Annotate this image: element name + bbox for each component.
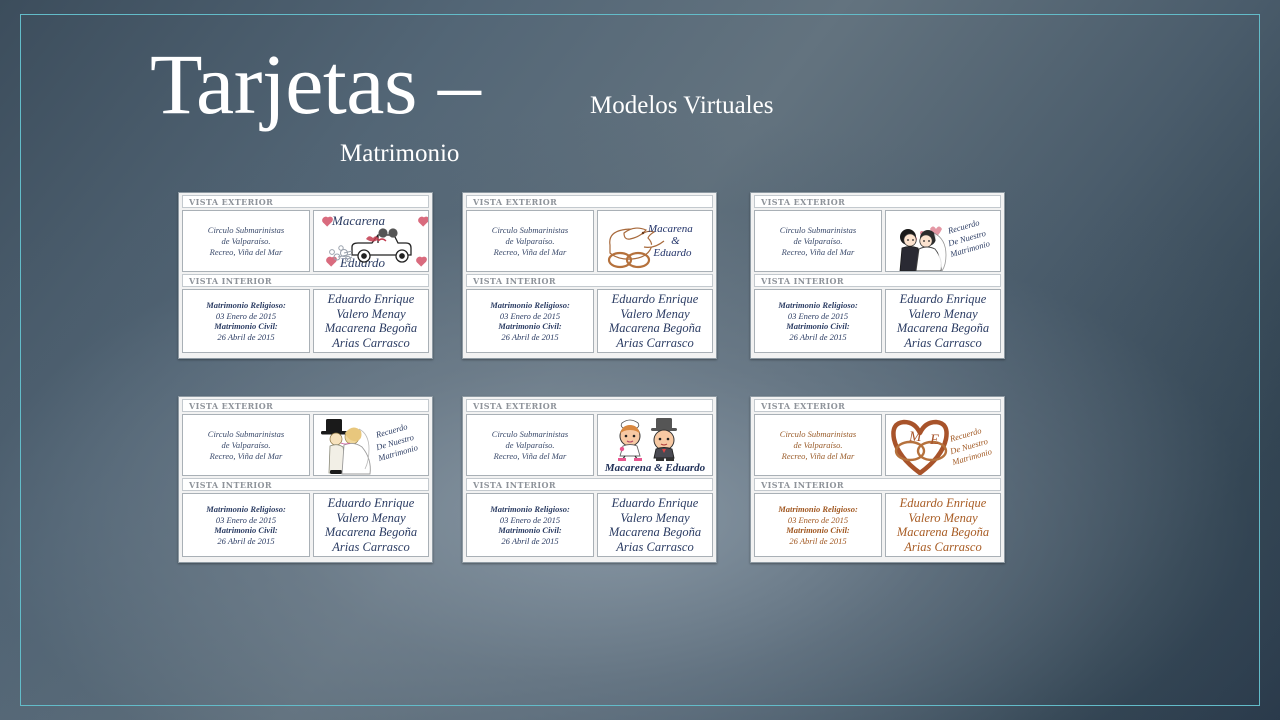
card-4[interactable]: VISTA EXTERIOR Circulo Submarinistas de … [178, 396, 433, 563]
event-panel: Matrimonio Religioso: 03 Enero de 2015 M… [754, 493, 882, 557]
venue-panel: Circulo Submarinistas de Valparaíso. Rec… [182, 414, 310, 476]
artwork-panel-dove-rings: Macarena & Eduardo [597, 210, 713, 272]
couple-embrace-illustration: Recuerdo De Nuestro Matrimonio [886, 211, 1000, 271]
dove-rings-illustration: Macarena & Eduardo [598, 211, 712, 271]
interior-row: Matrimonio Religioso: 03 Enero de 2015 M… [182, 493, 429, 557]
names-panel: Eduardo Enrique Valero Menay Macarena Be… [313, 289, 429, 353]
religious-label: Matrimonio Religioso: [490, 504, 570, 515]
title-subtitle-right: Modelos Virtuales [590, 92, 773, 120]
venue-panel: Circulo Submarinistas de Valparaíso. Rec… [754, 414, 882, 476]
religious-date: 03 Enero de 2015 [216, 311, 276, 322]
venue-line-3: Recreo, Viña del Mar [782, 451, 855, 462]
venue-line-3: Recreo, Viña del Mar [782, 247, 855, 258]
event-panel: Matrimonio Religioso: 03 Enero de 2015 M… [182, 289, 310, 353]
religious-label: Matrimonio Religioso: [206, 300, 286, 311]
card-3[interactable]: VISTA EXTERIOR Circulo Submarinistas de … [750, 192, 1005, 359]
civil-date: 26 Abril de 2015 [217, 536, 274, 547]
religious-label: Matrimonio Religioso: [778, 300, 858, 311]
monogram-m: M [908, 429, 923, 445]
name-line-1: Eduardo Enrique [900, 292, 987, 307]
venue-line-2: de Valparaíso. [505, 236, 554, 247]
groom-figure [651, 418, 677, 461]
vista-exterior-label: VISTA EXTERIOR [466, 195, 713, 208]
venue-line-2: de Valparaíso. [793, 236, 842, 247]
name-line-2: Valero Menay [620, 307, 689, 322]
civil-label: Matrimonio Civil: [498, 525, 562, 536]
civil-label: Matrimonio Civil: [214, 321, 278, 332]
venue-line-3: Recreo, Viña del Mar [210, 451, 283, 462]
name-line-3: Macarena Begoña [609, 525, 701, 540]
venue-panel: Circulo Submarinistas de Valparaíso. Rec… [466, 414, 594, 476]
name-line-3: Macarena Begoña [897, 525, 989, 540]
exterior-row: Circulo Submarinistas de Valparaíso. Rec… [466, 414, 713, 476]
venue-line-2: de Valparaíso. [505, 440, 554, 451]
name-line-1: Eduardo Enrique [328, 292, 415, 307]
vista-exterior-label: VISTA EXTERIOR [466, 399, 713, 412]
venue-line-1: Circulo Submarinistas [780, 429, 856, 440]
venue-line-2: de Valparaíso. [221, 236, 270, 247]
artwork-panel-heart-monogram: M E Recuerdo De Nuestro Matrimonio [885, 414, 1001, 476]
name-line-2: Valero Menay [908, 511, 977, 526]
wedding-car-illustration: Macarena Eduardo [314, 211, 428, 271]
name-line-3: Macarena Begoña [897, 321, 989, 336]
venue-line-1: Circulo Submarinistas [208, 429, 284, 440]
slide: Tarjetas – Modelos Virtuales Matrimonio … [0, 0, 1280, 720]
vista-interior-label: VISTA INTERIOR [466, 478, 713, 491]
venue-panel: Circulo Submarinistas de Valparaíso. Rec… [754, 210, 882, 272]
name-line-4: Arias Carrasco [904, 540, 981, 555]
religious-date: 03 Enero de 2015 [500, 515, 560, 526]
event-panel: Matrimonio Religioso: 03 Enero de 2015 M… [466, 289, 594, 353]
card-2[interactable]: VISTA EXTERIOR Circulo Submarinistas de … [462, 192, 717, 359]
religious-label: Matrimonio Religioso: [206, 504, 286, 515]
name-line-2: Valero Menay [336, 511, 405, 526]
civil-date: 26 Abril de 2015 [501, 332, 558, 343]
artwork-panel-wedding-car: Macarena Eduardo [313, 210, 429, 272]
civil-date: 26 Abril de 2015 [789, 332, 846, 343]
bride-figure [618, 420, 642, 461]
interior-row: Matrimonio Religioso: 03 Enero de 2015 M… [182, 289, 429, 353]
civil-label: Matrimonio Civil: [498, 321, 562, 332]
exterior-row: Circulo Submarinistas de Valparaíso. Rec… [754, 414, 1001, 476]
name-line-4: Arias Carrasco [332, 540, 409, 555]
artwork-panel-couple-embrace: Recuerdo De Nuestro Matrimonio [885, 210, 1001, 272]
religious-date: 03 Enero de 2015 [788, 311, 848, 322]
vista-exterior-label: VISTA EXTERIOR [182, 399, 429, 412]
name-line-1: Eduardo Enrique [900, 496, 987, 511]
name-line-4: Arias Carrasco [332, 336, 409, 351]
venue-line-3: Recreo, Viña del Mar [494, 451, 567, 462]
cartoon-bride-groom-icon [598, 416, 713, 464]
bride-name-art: Macarena [648, 223, 693, 235]
dove-eye [642, 232, 644, 234]
couple-names-art: Macarena & Eduardo [648, 223, 693, 259]
vista-interior-label: VISTA INTERIOR [754, 274, 1001, 287]
venue-line-1: Circulo Submarinistas [208, 225, 284, 236]
title-block: Tarjetas – Modelos Virtuales Matrimonio [150, 36, 1050, 186]
venue-line-1: Circulo Submarinistas [492, 429, 568, 440]
car-icon [314, 211, 429, 272]
title-subtitle-below: Matrimonio [340, 140, 459, 168]
religious-date: 03 Enero de 2015 [500, 311, 560, 322]
couple-pair-art: Macarena & Eduardo [598, 462, 712, 474]
name-line-1: Eduardo Enrique [612, 292, 699, 307]
name-line-3: Macarena Begoña [609, 321, 701, 336]
religious-date: 03 Enero de 2015 [788, 515, 848, 526]
interior-row: Matrimonio Religioso: 03 Enero de 2015 M… [754, 493, 1001, 557]
card-5[interactable]: VISTA EXTERIOR Circulo Submarinistas de … [462, 396, 717, 563]
religious-label: Matrimonio Religioso: [778, 504, 858, 515]
venue-line-3: Recreo, Viña del Mar [210, 247, 283, 258]
vista-exterior-label: VISTA EXTERIOR [754, 399, 1001, 412]
exterior-row: Circulo Submarinistas de Valparaíso. Rec… [182, 414, 429, 476]
venue-line-1: Circulo Submarinistas [780, 225, 856, 236]
artwork-panel-couple-kiss: Recuerdo De Nuestro Matrimonio [313, 414, 429, 476]
heart-rings-monogram-illustration: M E Recuerdo De Nuestro Matrimonio [886, 415, 1000, 475]
name-line-3: Macarena Begoña [325, 525, 417, 540]
exterior-row: Circulo Submarinistas de Valparaíso. Rec… [754, 210, 1001, 272]
name-line-2: Valero Menay [336, 307, 405, 322]
civil-label: Matrimonio Civil: [786, 525, 850, 536]
event-panel: Matrimonio Religioso: 03 Enero de 2015 M… [754, 289, 882, 353]
interior-row: Matrimonio Religioso: 03 Enero de 2015 M… [466, 493, 713, 557]
name-line-2: Valero Menay [908, 307, 977, 322]
event-panel: Matrimonio Religioso: 03 Enero de 2015 M… [466, 493, 594, 557]
vista-exterior-label: VISTA EXTERIOR [182, 195, 429, 208]
event-panel: Matrimonio Religioso: 03 Enero de 2015 M… [182, 493, 310, 557]
name-line-1: Eduardo Enrique [612, 496, 699, 511]
ampersand-art: & [648, 235, 693, 247]
groom-name-art: Eduardo [648, 247, 693, 259]
names-panel: Eduardo Enrique Valero Menay Macarena Be… [885, 289, 1001, 353]
venue-line-2: de Valparaíso. [221, 440, 270, 451]
civil-date: 26 Abril de 2015 [789, 536, 846, 547]
vista-interior-label: VISTA INTERIOR [754, 478, 1001, 491]
religious-date: 03 Enero de 2015 [216, 515, 276, 526]
interior-row: Matrimonio Religioso: 03 Enero de 2015 M… [754, 289, 1001, 353]
tophat-icon [321, 419, 347, 435]
names-panel: Eduardo Enrique Valero Menay Macarena Be… [597, 493, 713, 557]
civil-date: 26 Abril de 2015 [501, 536, 558, 547]
civil-label: Matrimonio Civil: [214, 525, 278, 536]
name-line-3: Macarena Begoña [325, 321, 417, 336]
names-panel: Eduardo Enrique Valero Menay Macarena Be… [885, 493, 1001, 557]
name-line-2: Valero Menay [620, 511, 689, 526]
venue-line-1: Circulo Submarinistas [492, 225, 568, 236]
civil-date: 26 Abril de 2015 [217, 332, 274, 343]
venue-panel: Circulo Submarinistas de Valparaíso. Rec… [466, 210, 594, 272]
names-panel: Eduardo Enrique Valero Menay Macarena Be… [313, 493, 429, 557]
religious-label: Matrimonio Religioso: [490, 300, 570, 311]
vista-interior-label: VISTA INTERIOR [466, 274, 713, 287]
exterior-row: Circulo Submarinistas de Valparaíso. Rec… [182, 210, 429, 272]
cartoon-couple-illustration: Macarena & Eduardo [598, 415, 712, 475]
couple-kiss-illustration: Recuerdo De Nuestro Matrimonio [314, 415, 428, 475]
vista-exterior-label: VISTA EXTERIOR [754, 195, 1001, 208]
card-grid: VISTA EXTERIOR Circulo Submarinistas de … [178, 192, 1108, 582]
civil-label: Matrimonio Civil: [786, 321, 850, 332]
page-title: Tarjetas – [150, 36, 480, 132]
vista-interior-label: VISTA INTERIOR [182, 274, 429, 287]
card-1[interactable]: VISTA EXTERIOR Circulo Submarinistas de … [178, 192, 433, 359]
name-line-4: Arias Carrasco [616, 540, 693, 555]
names-panel: Eduardo Enrique Valero Menay Macarena Be… [597, 289, 713, 353]
venue-line-3: Recreo, Viña del Mar [494, 247, 567, 258]
name-line-1: Eduardo Enrique [328, 496, 415, 511]
venue-line-2: de Valparaíso. [793, 440, 842, 451]
interior-row: Matrimonio Religioso: 03 Enero de 2015 M… [466, 289, 713, 353]
card-6[interactable]: VISTA EXTERIOR Circulo Submarinistas de … [750, 396, 1005, 563]
venue-panel: Circulo Submarinistas de Valparaíso. Rec… [182, 210, 310, 272]
vista-interior-label: VISTA INTERIOR [182, 478, 429, 491]
name-line-4: Arias Carrasco [616, 336, 693, 351]
artwork-panel-cartoon-couple: Macarena & Eduardo [597, 414, 713, 476]
exterior-row: Circulo Submarinistas de Valparaíso. Rec… [466, 210, 713, 272]
name-line-4: Arias Carrasco [904, 336, 981, 351]
